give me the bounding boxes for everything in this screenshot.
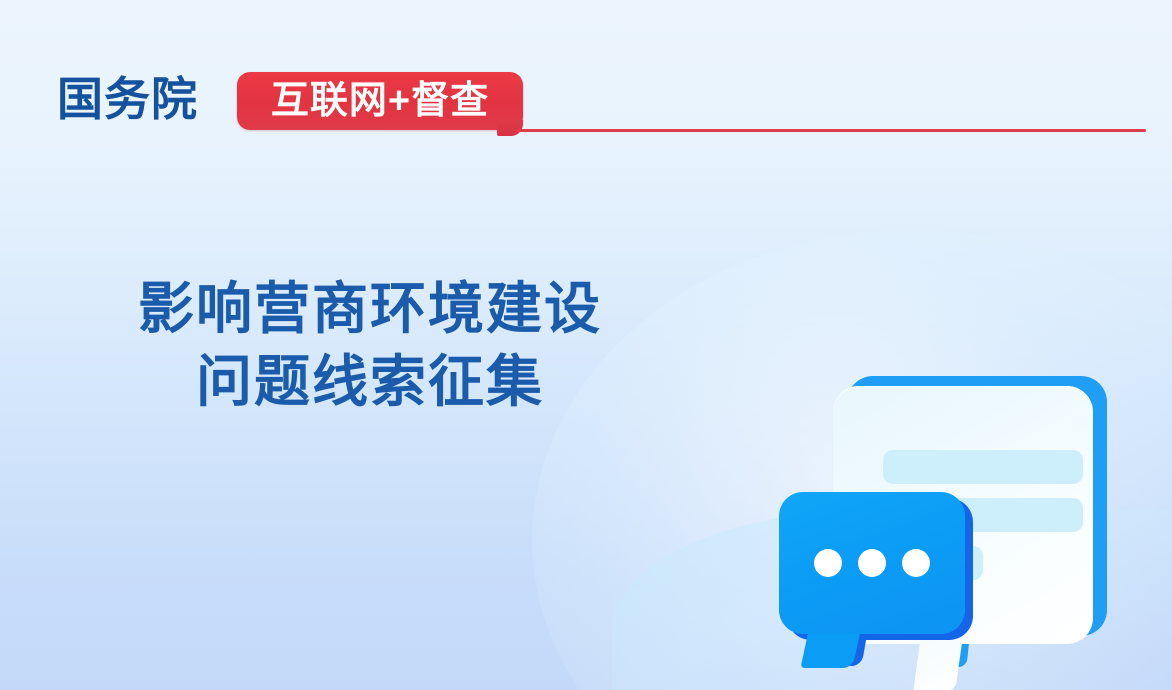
page-title-line-2: 问题线索征集 — [0, 345, 740, 418]
header-divider-rule — [516, 129, 1146, 132]
chat-bubbles-illustration — [745, 360, 1165, 680]
program-badge: 互联网+督查 — [237, 72, 523, 130]
typing-dot-1 — [814, 549, 842, 577]
organization-name: 国务院 — [57, 64, 198, 134]
content-bar-1 — [883, 450, 1083, 484]
message-bubble-large-tail — [913, 636, 963, 690]
banner-root: 国务院 互联网+督查 影响营商环境建设 问题线索征集 — [0, 0, 1172, 690]
page-title-line-1: 影响营商环境建设 — [0, 272, 740, 345]
typing-dot-2 — [858, 549, 886, 577]
program-badge-label: 互联网+督查 — [237, 72, 523, 130]
header: 国务院 互联网+督查 — [0, 64, 1172, 136]
typing-dot-3 — [902, 549, 930, 577]
typing-dots-group — [779, 492, 965, 634]
page-title: 影响营商环境建设 问题线索征集 — [0, 272, 740, 418]
